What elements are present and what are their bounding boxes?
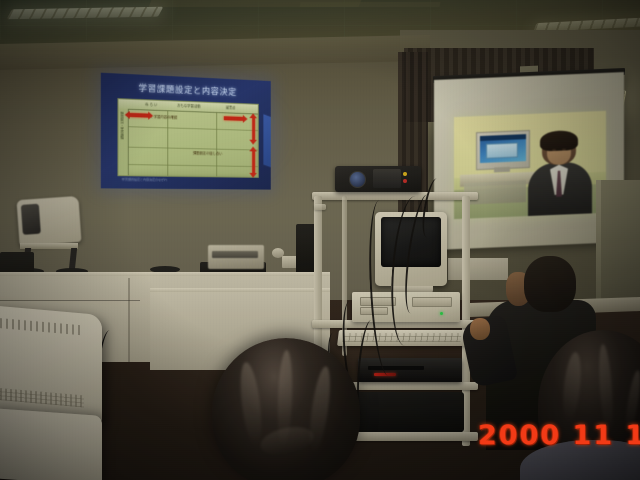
monitor-support-surface bbox=[0, 408, 102, 480]
slide-table-header-cell: ね ら い bbox=[145, 101, 157, 107]
av-deck bbox=[208, 245, 264, 269]
slide-table-header-cell: おもな学習活動 bbox=[177, 103, 200, 109]
slide-title: 学習課題設定と内容決定 bbox=[101, 80, 271, 100]
remote-window bbox=[486, 142, 518, 158]
video-conference-feed bbox=[454, 111, 606, 219]
hair-highlight bbox=[560, 351, 583, 422]
camera-date-stamp: 2000 11 12 bbox=[478, 420, 640, 451]
slide-arrow-vertical-icon bbox=[252, 151, 255, 173]
cart-crossbar bbox=[314, 204, 326, 210]
remote-crt-monitor bbox=[476, 130, 530, 170]
monitor-vent-slots bbox=[0, 388, 84, 407]
cart-shelf-top bbox=[312, 192, 478, 200]
right-cabinet-edge bbox=[596, 180, 601, 300]
vcr-tape-slot bbox=[368, 366, 424, 370]
counter-crt-monitor bbox=[16, 196, 81, 246]
projector-lens-icon bbox=[349, 171, 366, 188]
slide-table-row-label: 時間配分・学習過程 bbox=[120, 112, 124, 140]
slide-table-gridline bbox=[128, 126, 258, 131]
remote-monitor-stand bbox=[494, 167, 510, 173]
hair-highlight bbox=[237, 361, 265, 447]
seated-man-head bbox=[524, 256, 576, 312]
slide-table-gridline bbox=[216, 112, 217, 176]
crt-monitor-rear bbox=[0, 305, 102, 423]
projected-presentation-slide: 学習課題設定と内容決定 ね ら い おもな学習活動 留意点 時間配分・学習過程 … bbox=[101, 73, 271, 190]
seated-man-hand bbox=[470, 318, 490, 340]
slide-table-gridline bbox=[167, 110, 168, 176]
remote-monitor-screen bbox=[480, 134, 526, 163]
projector-connector-panel bbox=[373, 169, 401, 188]
slide-arrow-right-icon bbox=[224, 116, 243, 121]
hair-highlight bbox=[258, 423, 316, 460]
photograph-canvas: 学習課題設定と内容決定 ね ら い おもな学習活動 留意点 時間配分・学習過程 … bbox=[0, 0, 640, 480]
projector-rca-jack-yellow bbox=[403, 172, 407, 176]
remote-person-eye bbox=[562, 148, 566, 150]
slide-table-header-cell: 留意点 bbox=[226, 104, 236, 109]
right-desk-unit bbox=[448, 258, 508, 280]
slide-table: ね ら い おもな学習活動 留意点 時間配分・学習過程 入 学習内容の確認 課題… bbox=[117, 98, 258, 178]
remote-window-titlebar bbox=[480, 134, 526, 141]
slide-table-gridline bbox=[128, 164, 258, 167]
ceiling-beam bbox=[300, 2, 441, 7]
video-projector bbox=[335, 166, 421, 192]
counter-seam bbox=[128, 278, 130, 362]
remote-person-hair bbox=[540, 130, 578, 152]
slide-arrow-vertical-icon bbox=[252, 118, 255, 140]
audience-member-foreground bbox=[212, 338, 360, 480]
projector-rca-jack-red bbox=[403, 179, 407, 183]
right-storage-cabinet bbox=[596, 180, 640, 300]
av-deck-faceplate bbox=[212, 251, 258, 258]
slide-arrow-left-icon bbox=[130, 113, 148, 118]
monitor-vent-slots bbox=[0, 318, 82, 336]
counter-edge-line bbox=[0, 300, 140, 301]
counter-crt-screen bbox=[21, 204, 41, 235]
pc-power-led-icon bbox=[440, 312, 443, 315]
slide-decorative-shape bbox=[263, 114, 270, 172]
remote-person-eye bbox=[552, 149, 556, 151]
slide-footer-note: 学習課題設定と内容決定のながれ bbox=[122, 177, 168, 189]
slide-table-cell: 課題設定の話し合い bbox=[193, 150, 223, 156]
slide-table-cell: 入 学習内容の確認 bbox=[149, 114, 177, 120]
